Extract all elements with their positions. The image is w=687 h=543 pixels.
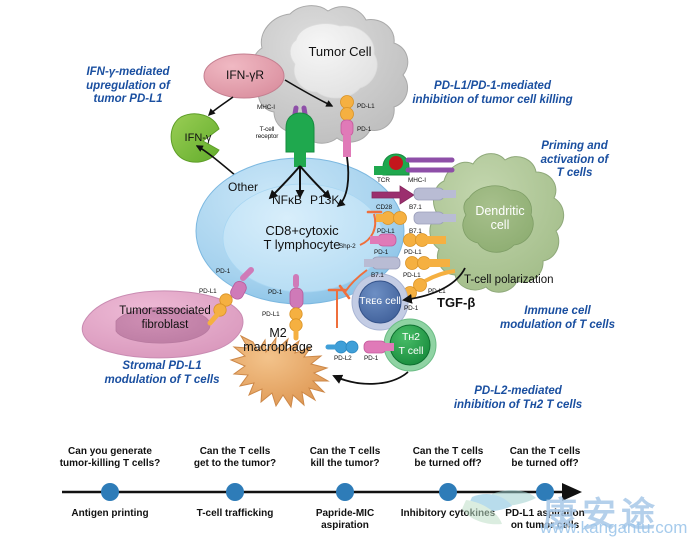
timeline-question-1: Can you generate tumor-killing T cells? (40, 446, 180, 469)
timeline-dot-1[interactable] (101, 483, 119, 501)
timeline-label-5: PD-L1 aspiration on tumor cells (475, 508, 615, 531)
timeline-dot-2[interactable] (226, 483, 244, 501)
timeline-label-1: Antigen printing (40, 508, 180, 520)
timeline-dot-3[interactable] (336, 483, 354, 501)
timeline-dot-5[interactable] (536, 483, 554, 501)
timeline-dot-4[interactable] (439, 483, 457, 501)
figure-canvas: IFN-γ-mediated upregulation of tumor PD-… (0, 0, 687, 543)
timeline-question-5: Can the T cells be turned off? (475, 446, 615, 469)
